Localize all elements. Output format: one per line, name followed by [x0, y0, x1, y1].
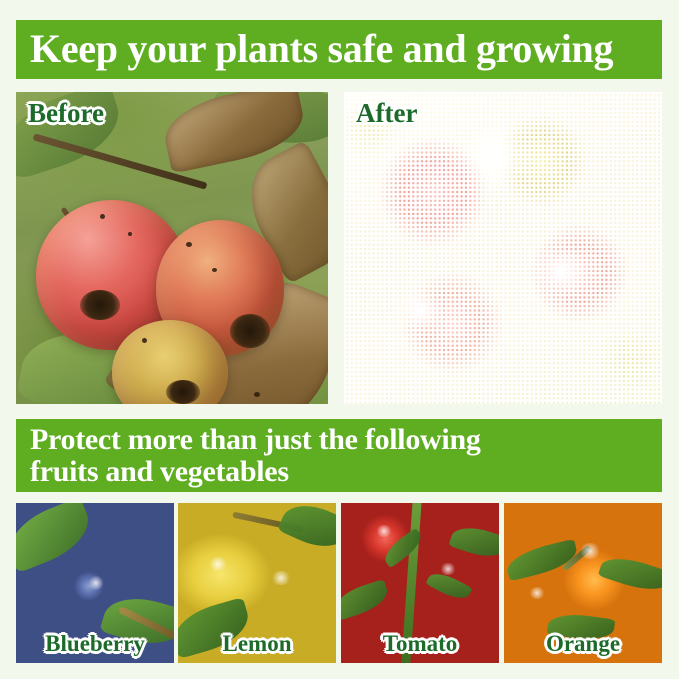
infographic-page: Keep your plants safe and growing [0, 0, 679, 679]
pest-speck [100, 214, 105, 219]
pest-speck [142, 338, 147, 343]
pest-speck [254, 392, 260, 397]
rot-spot [80, 290, 120, 320]
middle-banner-title: Protect more than just the following fru… [30, 424, 481, 488]
leaf-shape [598, 551, 662, 597]
gloss-shape [439, 563, 457, 575]
produce-thumbnail: Lemon [178, 503, 336, 663]
pest-speck [186, 242, 192, 247]
pest-speck [212, 268, 217, 272]
leaf-shape [277, 503, 336, 557]
rot-spot [166, 380, 200, 404]
before-photo: Before [16, 92, 328, 404]
gloss-shape [528, 587, 546, 599]
produce-label: Blueberry [16, 631, 174, 657]
before-label: Before [28, 98, 104, 129]
leaf-shape [16, 503, 98, 573]
top-banner: Keep your plants safe and growing [16, 20, 662, 79]
gloss-shape [208, 557, 228, 571]
gloss-shape [578, 543, 602, 559]
produce-thumbnail: Orange [504, 503, 662, 663]
mesh-veil [344, 92, 662, 404]
produce-label: Orange [504, 631, 662, 657]
gloss-shape [270, 571, 292, 585]
produce-label: Tomato [341, 631, 499, 657]
rot-spot [230, 314, 270, 348]
produce-thumbnail: Tomato [341, 503, 499, 663]
middle-banner: Protect more than just the following fru… [16, 419, 662, 492]
produce-label: Lemon [178, 631, 336, 657]
leaf-shape [448, 521, 499, 563]
after-label: After [356, 98, 417, 129]
after-photo: After [344, 92, 662, 404]
pest-speck [128, 232, 132, 236]
before-photo-artwork [16, 92, 328, 404]
gloss-shape [375, 525, 393, 537]
gloss-shape [88, 575, 104, 591]
top-banner-title: Keep your plants safe and growing [30, 28, 613, 70]
produce-thumbnail: Blueberry [16, 503, 174, 663]
leaf-shape [341, 579, 392, 621]
